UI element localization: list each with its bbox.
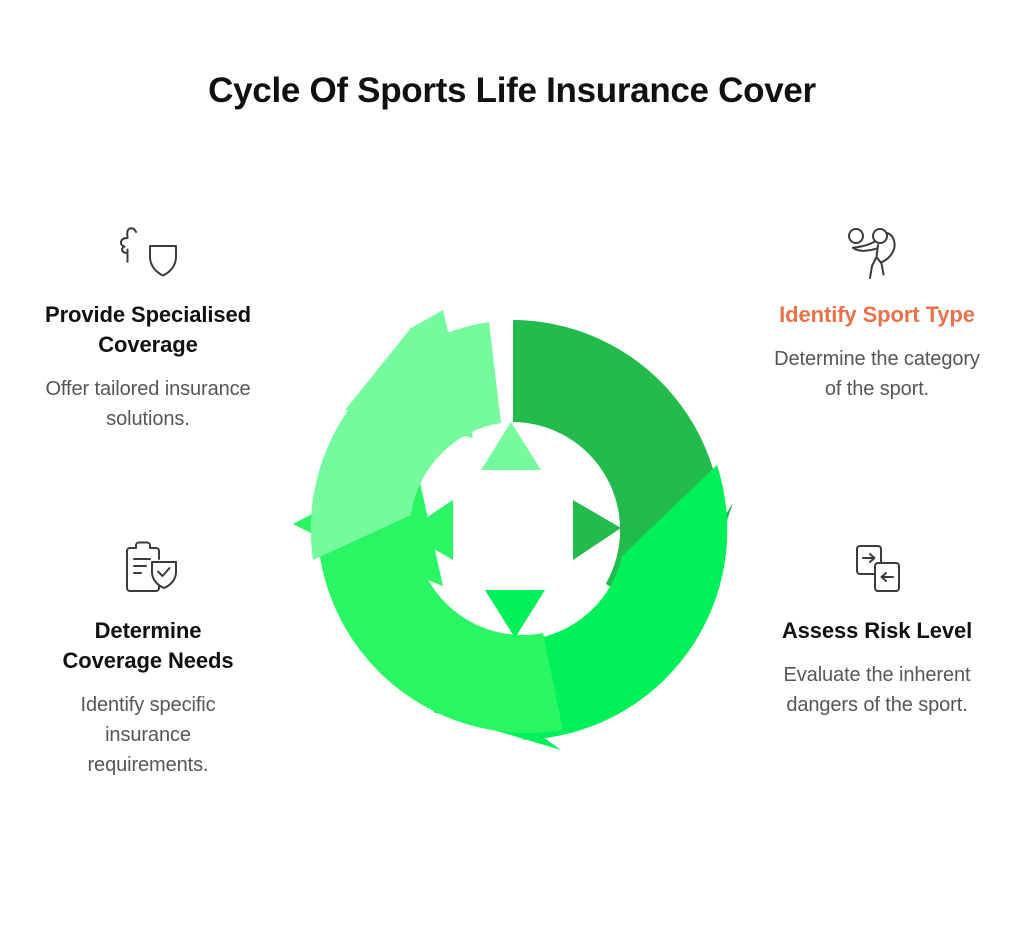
sport-player-ball-icon xyxy=(772,222,982,288)
step-provide-specialised-coverage[interactable]: Provide Specialised Coverage Offer tailo… xyxy=(43,222,253,434)
exchange-cards-icon xyxy=(772,538,982,604)
step-description: Offer tailored insurance solutions. xyxy=(43,374,253,434)
step-description: Determine the category of the sport. xyxy=(772,344,982,404)
step-description: Evaluate the inherent dangers of the spo… xyxy=(772,660,982,720)
step-title: Assess Risk Level xyxy=(772,616,982,646)
clipboard-check-shield-icon xyxy=(43,538,253,604)
step-title: Provide Specialised Coverage xyxy=(43,300,253,360)
step-assess-risk-level[interactable]: Assess Risk Level Evaluate the inherent … xyxy=(772,538,982,720)
step-title: Determine Coverage Needs xyxy=(43,616,253,676)
cycle-diagram-svg xyxy=(293,310,733,750)
step-title: Identify Sport Type xyxy=(772,300,982,330)
hand-shield-icon xyxy=(43,222,253,288)
infographic-page: Cycle Of Sports Life Insurance Cover xyxy=(0,0,1024,934)
step-determine-coverage-needs[interactable]: Determine Coverage Needs Identify specif… xyxy=(43,538,253,780)
cycle-diagram xyxy=(293,310,733,750)
step-identify-sport-type[interactable]: Identify Sport Type Determine the catego… xyxy=(772,222,982,404)
page-title: Cycle Of Sports Life Insurance Cover xyxy=(172,68,852,114)
step-description: Identify specific insurance requirements… xyxy=(43,690,253,780)
